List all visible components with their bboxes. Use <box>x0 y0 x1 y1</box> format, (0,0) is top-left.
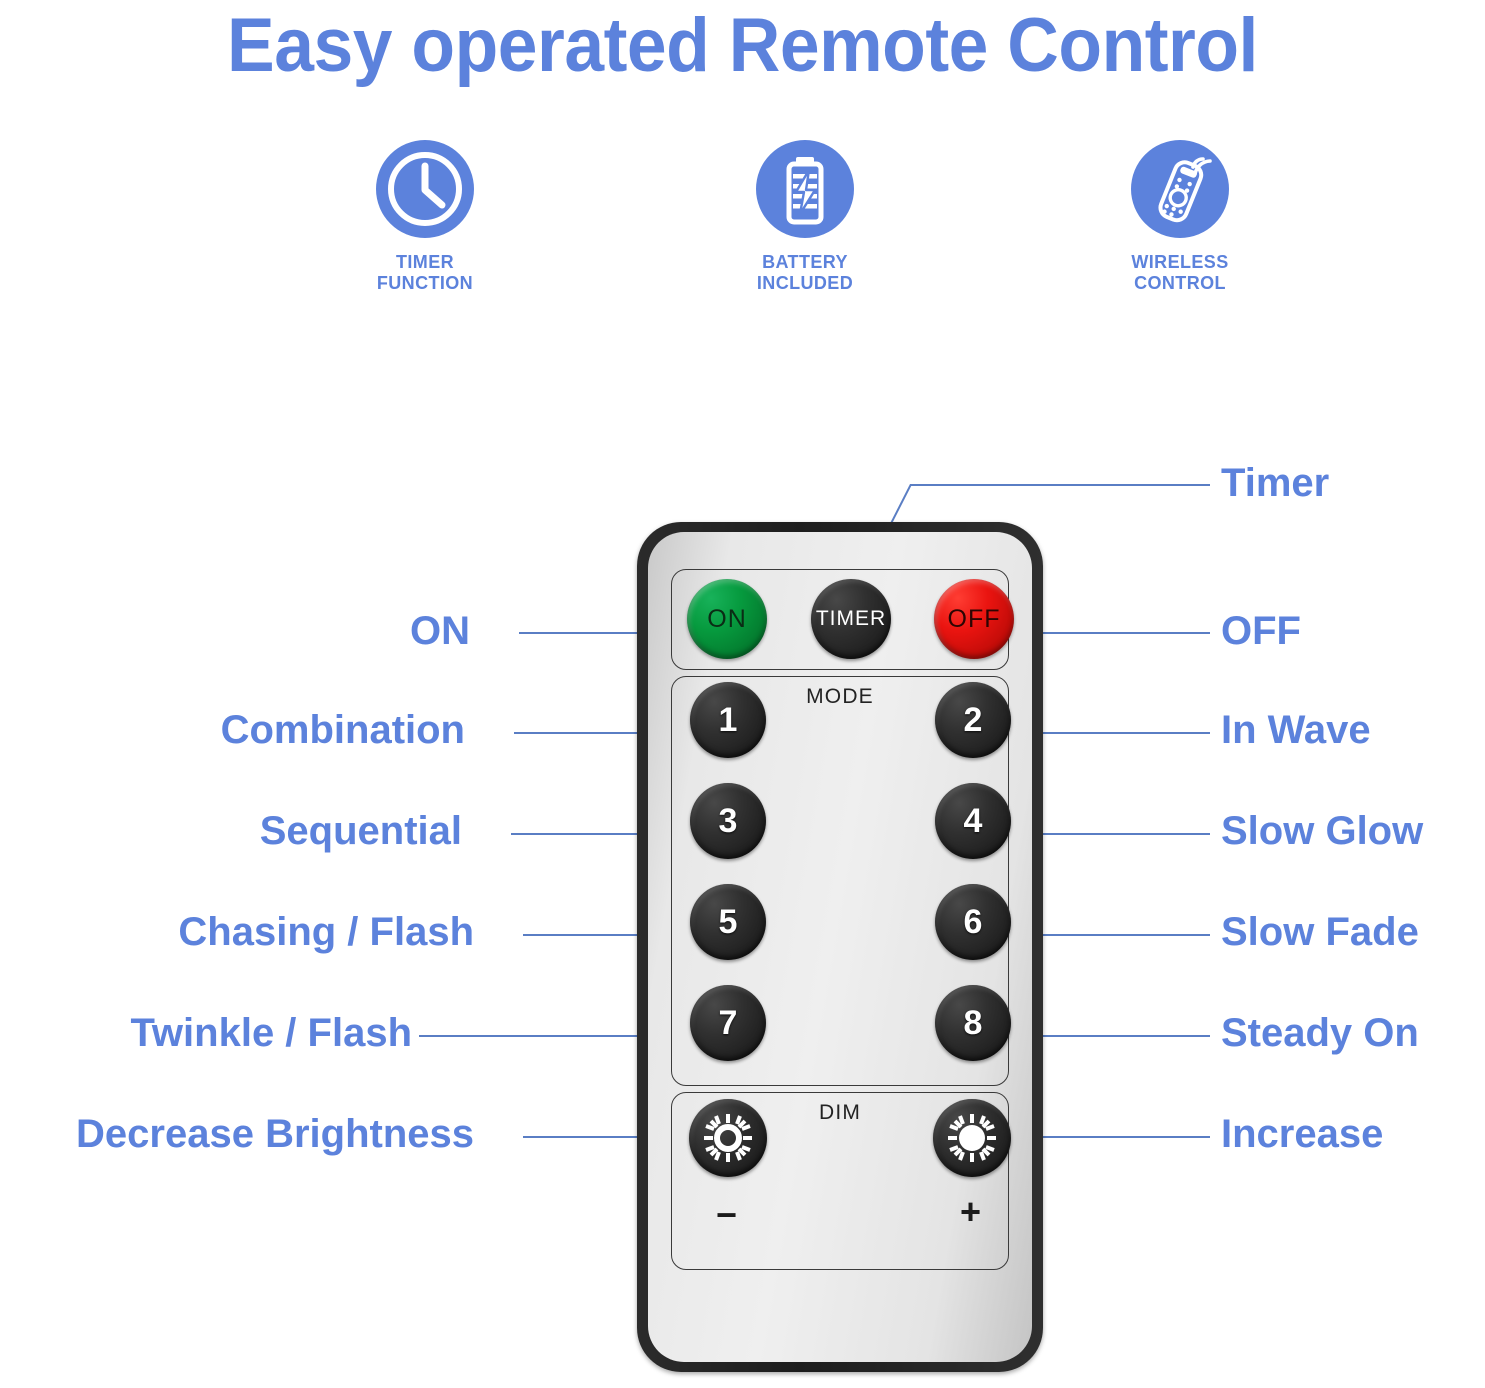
mode-button-4[interactable]: 4 <box>935 783 1011 859</box>
feature-label: BATTERY INCLUDED <box>655 252 955 294</box>
clock-icon <box>376 140 474 238</box>
on-button[interactable]: ON <box>687 579 767 659</box>
callout-slow-fade: Slow Fade <box>1221 912 1419 952</box>
remote-face: ON TIMER OFF MODE 1 2 3 4 5 6 7 8 DIM <box>648 532 1032 1362</box>
callout-chasing-flash: Chasing / Flash <box>178 912 474 952</box>
feature-wireless-control: WIRELESS CONTROL <box>1030 140 1330 294</box>
mode-button-6[interactable]: 6 <box>935 884 1011 960</box>
feature-timer-function: TIMER FUNCTION <box>275 140 575 294</box>
callout-sequential: Sequential <box>260 811 462 851</box>
dim-up-button[interactable] <box>933 1099 1011 1177</box>
dim-plus-sign: + <box>960 1194 981 1230</box>
callout-on: ON <box>410 611 470 651</box>
callout-off: OFF <box>1221 611 1301 651</box>
mode-button-5[interactable]: 5 <box>690 884 766 960</box>
callout-twinkle-flash: Twinkle / Flash <box>130 1013 412 1053</box>
mode-button-2[interactable]: 2 <box>935 682 1011 758</box>
callout-timer: Timer <box>1221 463 1329 503</box>
remote-icon <box>1131 140 1229 238</box>
mode-button-panel: MODE 1 2 3 4 5 6 7 8 <box>671 676 1009 1086</box>
mode-button-7[interactable]: 7 <box>690 985 766 1061</box>
mode-button-3[interactable]: 3 <box>690 783 766 859</box>
timer-button-label: TIMER <box>816 607 886 631</box>
sun-bright-icon <box>946 1112 998 1164</box>
remote-control: ON TIMER OFF MODE 1 2 3 4 5 6 7 8 DIM <box>637 522 1043 1372</box>
callout-slow-glow: Slow Glow <box>1221 811 1423 851</box>
mode-button-8[interactable]: 8 <box>935 985 1011 1061</box>
dim-minus-sign: − <box>716 1197 737 1233</box>
mode-button-1[interactable]: 1 <box>690 682 766 758</box>
off-button[interactable]: OFF <box>934 579 1014 659</box>
timer-button[interactable]: TIMER <box>811 579 891 659</box>
callout-decrease-brightness: Decrease Brightness <box>76 1114 474 1154</box>
feature-badges: TIMER FUNCTION BATTERY INCLUDED <box>0 140 1485 330</box>
callout-steady-on: Steady On <box>1221 1013 1419 1053</box>
power-button-panel: ON TIMER OFF <box>671 569 1009 670</box>
feature-battery-included: BATTERY INCLUDED <box>655 140 955 294</box>
page-title: Easy operated Remote Control <box>45 2 1441 89</box>
dim-down-button[interactable] <box>689 1099 767 1177</box>
callout-in-wave: In Wave <box>1221 710 1371 750</box>
callout-combination: Combination <box>221 710 465 750</box>
sun-dim-icon <box>702 1112 754 1164</box>
dim-button-panel: DIM <box>671 1092 1009 1270</box>
callout-increase: Increase <box>1221 1114 1383 1154</box>
battery-icon <box>756 140 854 238</box>
feature-label: TIMER FUNCTION <box>275 252 575 294</box>
feature-label: WIRELESS CONTROL <box>1030 252 1330 294</box>
leader-timer-horizontal <box>910 484 1210 486</box>
